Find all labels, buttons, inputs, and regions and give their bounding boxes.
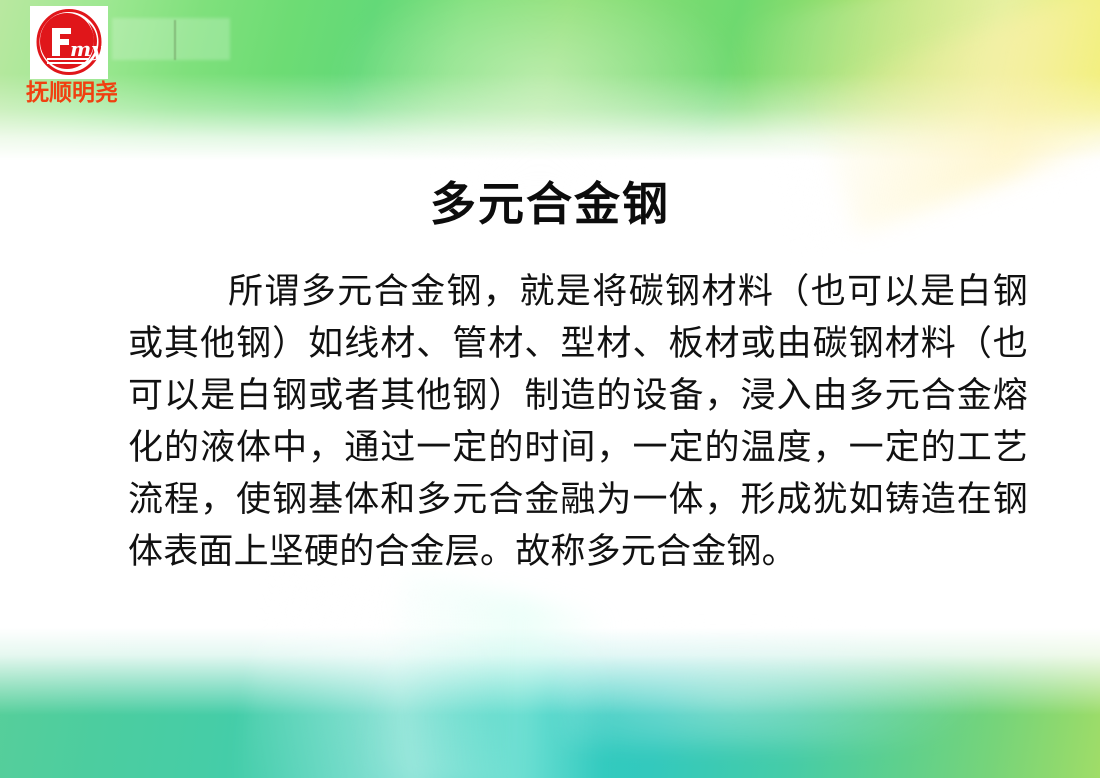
fmy-logo-icon: my <box>30 6 108 79</box>
company-logo: my 抚顺明尧 <box>26 6 120 105</box>
company-name-label: 抚顺明尧 <box>26 81 120 105</box>
presentation-slide: my 抚顺明尧 多元合金钢 所谓多元合金钢，就是将碳钢材料（也可以是白钢或其他钢… <box>0 0 1100 778</box>
slide-content: 多元合金钢 所谓多元合金钢，就是将碳钢材料（也可以是白钢或其他钢）如线材、管材、… <box>0 0 1100 778</box>
slide-body-paragraph: 所谓多元合金钢，就是将碳钢材料（也可以是白钢或其他钢）如线材、管材、型材、板材或… <box>128 266 1028 578</box>
svg-text:my: my <box>70 37 104 61</box>
slide-title: 多元合金钢 <box>0 168 1100 234</box>
